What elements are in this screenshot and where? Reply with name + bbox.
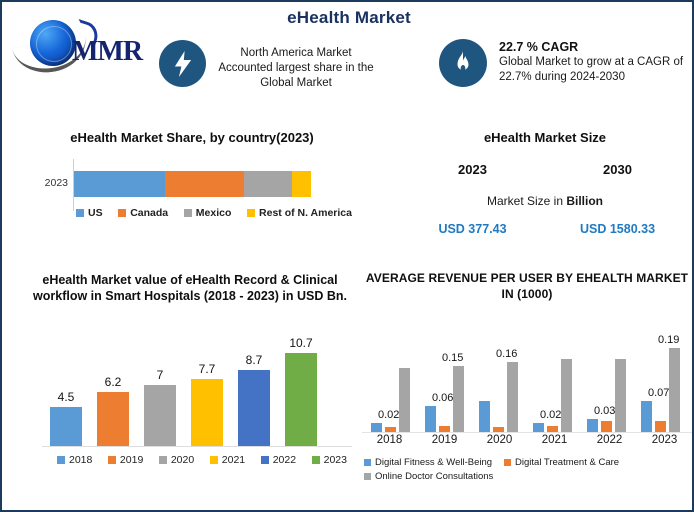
arpu-chart-title: AVERAGE REVENUE PER USER BY EHEALTH MARK… [362, 270, 692, 302]
bar-2023 [285, 353, 317, 446]
bar-group-2019: 0.060.15 [422, 320, 472, 432]
bar-value-label: 8.7 [232, 353, 276, 367]
bar-group-2023: 0.070.19 [638, 320, 688, 432]
bar-column: 4.5 [50, 407, 82, 446]
bar-2019-series0 [425, 406, 436, 432]
north-america-callout-text: North America Market Accounted largest s… [216, 46, 376, 91]
lightning-bolt-icon [159, 40, 206, 87]
bar-value-label: 4.5 [44, 390, 88, 404]
legend-item: Rest of N. America [247, 207, 352, 219]
legend-label: Rest of N. America [259, 207, 352, 219]
cagr-headline: 22.7 % CAGR [499, 40, 689, 54]
flame-icon [439, 39, 487, 87]
market-size-year-left: 2023 [400, 162, 545, 177]
market-size-subtitle-prefix: Market Size in [487, 194, 566, 208]
legend-label: Mexico [196, 207, 232, 219]
bar-column: 7.7 [191, 379, 223, 446]
bar-2023-series2 [669, 348, 680, 432]
legend-item: US [76, 207, 103, 219]
legend-label: 2018 [69, 454, 92, 466]
market-size-subtitle-unit: Billion [566, 194, 603, 208]
bar-2022-series2 [615, 359, 626, 432]
bar-value-label: 0.16 [496, 348, 517, 360]
bar-value-label: 0.06 [432, 392, 453, 404]
bar-2019-series2 [453, 366, 464, 432]
legend-swatch [247, 209, 255, 217]
legend-swatch [504, 459, 511, 466]
market-share-chart: 2023 USCanadaMexicoRest of N. America [32, 157, 352, 247]
axis-category-label: 2023 [637, 434, 692, 446]
legend-swatch [159, 456, 167, 464]
bar-group-2022: 0.03 [584, 320, 634, 432]
bar-group-2020: 0.16 [476, 320, 526, 432]
legend-label: 2021 [222, 454, 245, 466]
legend-swatch [57, 456, 65, 464]
legend-label: US [88, 207, 103, 219]
legend-swatch [184, 209, 192, 217]
market-size-values: USD 377.43 USD 1580.33 [400, 222, 690, 236]
arpu-baseline [362, 432, 692, 433]
market-share-segment-mexico [244, 171, 292, 197]
bar-2023-series1 [655, 421, 666, 432]
cagr-detail: Global Market to grow at a CAGR of 22.7%… [499, 55, 689, 85]
market-share-segment-rest-of-n-america [292, 171, 311, 197]
bar-2018 [50, 407, 82, 446]
legend-swatch [76, 209, 84, 217]
legend-item: 2018 [57, 454, 92, 466]
legend-item: Canada [118, 207, 168, 219]
bar-column: 7 [144, 385, 176, 446]
legend-item: Digital Fitness & Well-Being [364, 457, 492, 468]
smart-hospitals-chart-title: eHealth Market value of eHealth Record &… [30, 272, 350, 304]
arpu-category-labels: 201820192020202120222023 [362, 434, 692, 446]
legend-label: 2019 [120, 454, 143, 466]
legend-item: Mexico [184, 207, 232, 219]
market-size-title: eHealth Market Size [400, 130, 690, 145]
legend-label: Online Doctor Consultations [375, 471, 493, 482]
legend-row: Online Doctor Consultations [364, 471, 694, 482]
legend-swatch [364, 473, 371, 480]
bar-2021-series2 [561, 359, 572, 432]
market-share-legend: USCanadaMexicoRest of N. America [76, 207, 352, 219]
cagr-callout: 22.7 % CAGR Global Market to grow at a C… [499, 40, 689, 85]
legend-swatch [210, 456, 218, 464]
legend-item: 2021 [210, 454, 245, 466]
bar-value-label: 0.07 [648, 387, 669, 399]
flame-glyph [454, 51, 473, 76]
bar-2023-series0 [641, 401, 652, 432]
infographic-frame: eHealth Market MMR North America Market … [0, 0, 694, 512]
legend-item: 2020 [159, 454, 194, 466]
market-size-year-right: 2030 [545, 162, 690, 177]
bar-value-label: 7.7 [185, 362, 229, 376]
smart-hospitals-chart: 4.56.277.78.710.7 [42, 324, 352, 446]
axis-category-label: 2021 [527, 434, 582, 446]
bar-value-label: 0.15 [442, 352, 463, 364]
market-size-subtitle: Market Size in Billion [400, 194, 690, 208]
legend-item: 2022 [261, 454, 296, 466]
arpu-chart: 0.020.060.150.160.020.030.070.19 [362, 320, 692, 432]
arpu-legend: Digital Fitness & Well-BeingDigital Trea… [364, 457, 694, 485]
legend-item: Digital Treatment & Care [504, 457, 619, 468]
bar-value-label: 6.2 [91, 375, 135, 389]
market-share-category-label: 2023 [32, 177, 68, 189]
bar-value-label: 0.19 [658, 334, 679, 346]
market-size-value-2030: USD 1580.33 [545, 222, 690, 236]
legend-swatch [118, 209, 126, 217]
bar-2022 [238, 370, 270, 446]
legend-label: 2023 [324, 454, 347, 466]
axis-category-label: 2020 [472, 434, 527, 446]
legend-item: 2019 [108, 454, 143, 466]
bar-group-2021: 0.02 [530, 320, 580, 432]
legend-label: 2022 [273, 454, 296, 466]
legend-swatch [261, 456, 269, 464]
legend-swatch [108, 456, 116, 464]
market-share-stacked-bar [74, 171, 311, 197]
bar-2019 [97, 392, 129, 446]
bar-value-label: 10.7 [279, 336, 323, 350]
legend-label: Canada [130, 207, 168, 219]
bar-2020 [144, 385, 176, 446]
legend-row: Digital Fitness & Well-BeingDigital Trea… [364, 457, 694, 468]
mmr-logo: MMR [12, 14, 172, 76]
bar-group-2018: 0.02 [368, 320, 418, 432]
legend-swatch [364, 459, 371, 466]
bar-2020-series2 [507, 362, 518, 432]
market-share-segment-canada [165, 171, 244, 197]
bar-value-label: 7 [138, 368, 182, 382]
legend-label: 2020 [171, 454, 194, 466]
bar-2018-series2 [399, 368, 410, 432]
legend-swatch [312, 456, 320, 464]
legend-item: Online Doctor Consultations [364, 471, 493, 482]
axis-category-label: 2022 [582, 434, 637, 446]
bar-2022-series1 [601, 421, 612, 432]
bar-value-label: 0.02 [378, 409, 399, 421]
bar-2021-series0 [533, 423, 544, 432]
legend-item: 2023 [312, 454, 347, 466]
bar-2018-series0 [371, 423, 382, 432]
smart-hospitals-baseline [42, 446, 352, 447]
smart-hospitals-legend: 201820192020202120222023 [57, 454, 347, 466]
bar-2021 [191, 379, 223, 446]
market-size-value-2023: USD 377.43 [400, 222, 545, 236]
legend-label: Digital Treatment & Care [515, 457, 619, 468]
bar-2020-series0 [479, 401, 490, 432]
legend-label: Digital Fitness & Well-Being [375, 457, 492, 468]
bar-column: 8.7 [238, 370, 270, 446]
bar-column: 10.7 [285, 353, 317, 446]
bar-2022-series0 [587, 419, 598, 432]
logo-text: MMR [72, 36, 142, 68]
lightning-bolt-glyph [173, 51, 193, 77]
bar-value-label: 0.02 [540, 409, 561, 421]
axis-category-label: 2019 [417, 434, 472, 446]
market-share-chart-title: eHealth Market Share, by country(2023) [32, 130, 352, 145]
market-size-years: 2023 2030 [400, 162, 690, 177]
market-share-segment-us [74, 171, 165, 197]
bar-value-label: 0.03 [594, 405, 615, 417]
axis-category-label: 2018 [362, 434, 417, 446]
bar-column: 6.2 [97, 392, 129, 446]
